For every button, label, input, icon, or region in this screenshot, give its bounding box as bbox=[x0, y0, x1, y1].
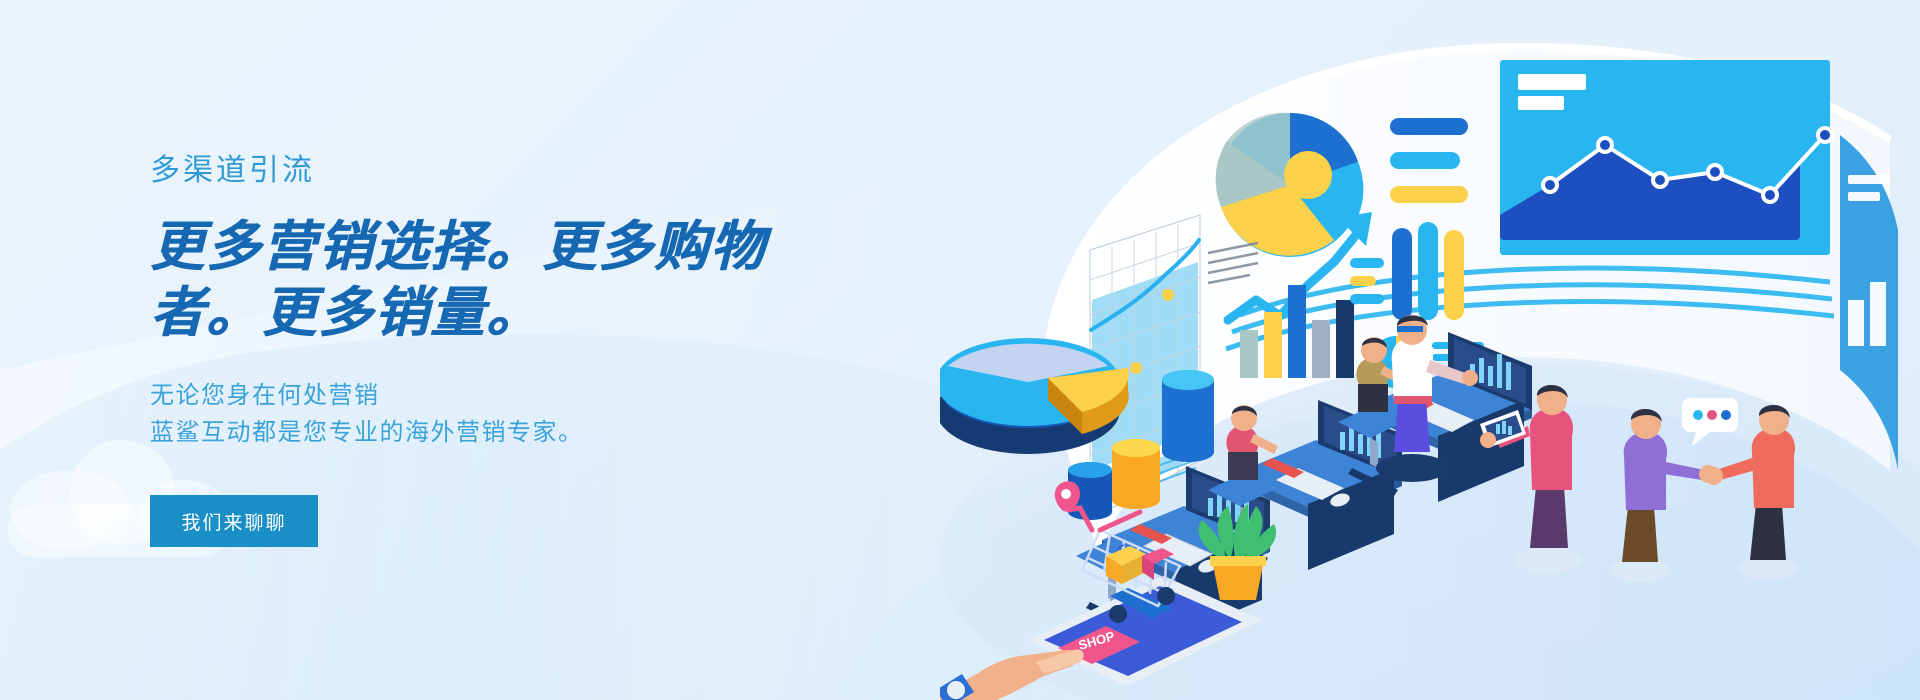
line-area-chart-screen bbox=[1500, 60, 1832, 255]
legend-bars bbox=[1390, 118, 1468, 203]
3d-pie-chart bbox=[940, 338, 1129, 454]
cloud-shape-icon bbox=[10, 470, 130, 550]
lets-chat-button[interactable]: 我们来聊聊 bbox=[150, 495, 318, 547]
hero-subcopy-line-2: 蓝鲨互动都是您专业的海外营销专家。 bbox=[150, 414, 910, 451]
hero-headline: 更多营销选择。更多购物者。更多销量。 bbox=[150, 215, 850, 347]
hero-illustration: SHOP bbox=[940, 0, 1920, 700]
hero-subcopy: 无论您身在何处营销 蓝鲨互动都是您专业的海外营销专家。 bbox=[150, 377, 910, 451]
hero-subcopy-line-1: 无论您身在何处营销 bbox=[150, 377, 910, 414]
hero-banner: 多渠道引流 更多营销选择。更多购物者。更多销量。 无论您身在何处营销 蓝鲨互动都… bbox=[0, 0, 1920, 700]
hero-content: 多渠道引流 更多营销选择。更多购物者。更多销量。 无论您身在何处营销 蓝鲨互动都… bbox=[150, 0, 910, 700]
hero-eyebrow: 多渠道引流 bbox=[150, 153, 910, 189]
